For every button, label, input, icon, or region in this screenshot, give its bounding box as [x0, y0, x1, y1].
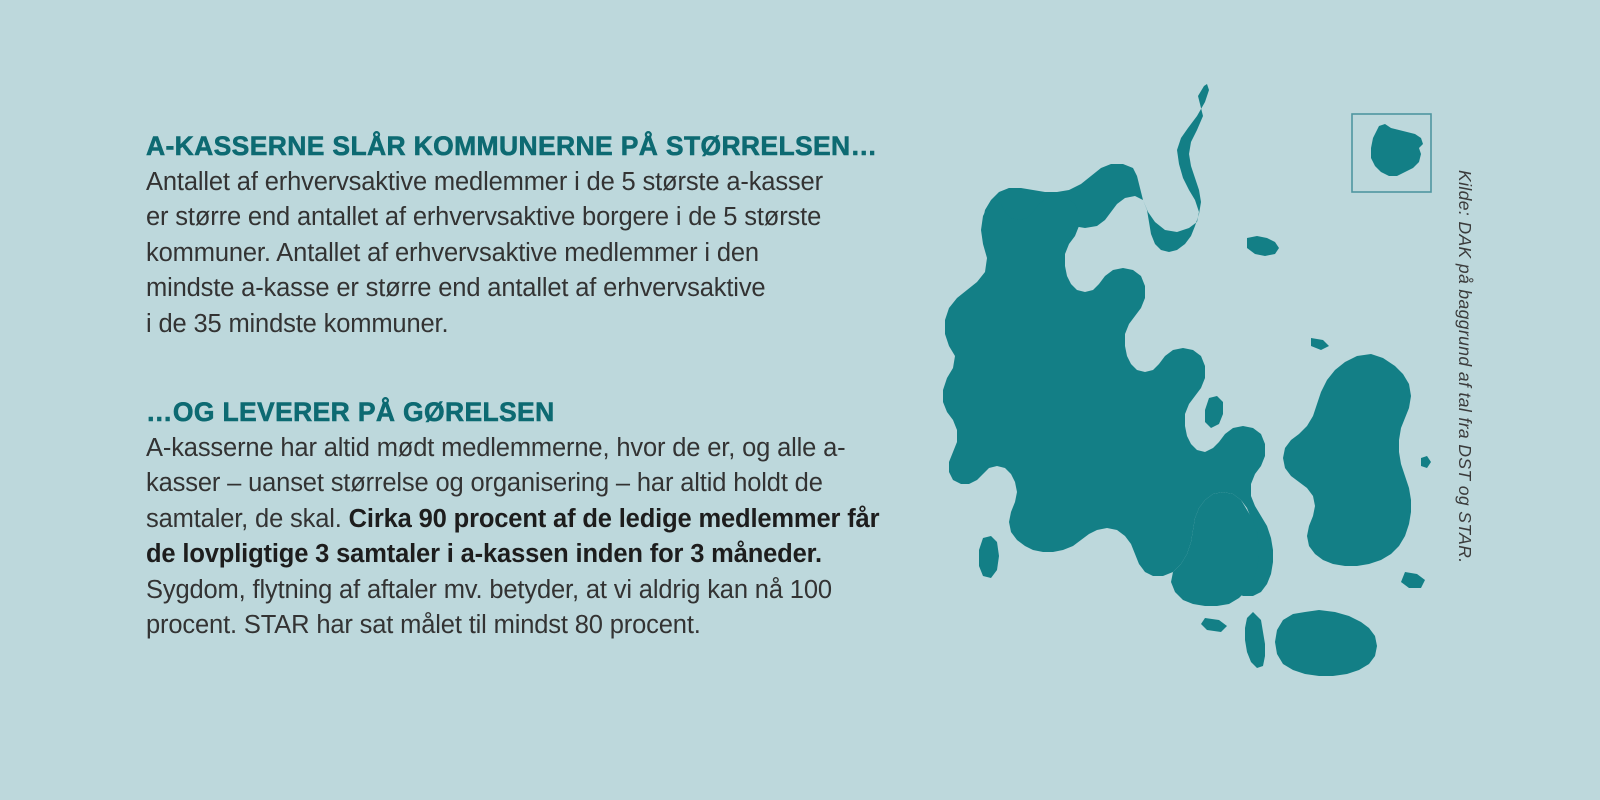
- section-block-delivery: …OG LEVERER PÅ GØRELSEN A-kasserne har a…: [146, 398, 906, 644]
- denmark-map: [905, 72, 1465, 712]
- map-region-zealand: [1283, 354, 1411, 566]
- section-paragraph-size: Antallet af erhvervsaktive medlemmer i d…: [146, 165, 906, 343]
- map-region-small-island-east: [1421, 456, 1431, 468]
- text-column: A-KASSERNE SLÅR KOMMUNERNE PÅ STØRRELSEN…: [146, 132, 906, 644]
- section-block-size: A-KASSERNE SLÅR KOMMUNERNE PÅ STØRRELSEN…: [146, 132, 906, 342]
- section-paragraph-delivery: A-kasserne har altid mødt medlemmerne, h…: [146, 431, 906, 644]
- paragraph-line: kommuner. Antallet af erhvervsaktive med…: [146, 239, 759, 267]
- map-region-laeso: [1247, 236, 1279, 256]
- paragraph-line: Antallet af erhvervsaktive medlemmer i d…: [146, 168, 823, 196]
- map-region-mon: [1401, 572, 1425, 588]
- paragraph-tail: Sygdom, flytning af aftaler mv. betyder,…: [146, 576, 832, 640]
- map-region-samso: [1205, 396, 1223, 428]
- map-region-bornholm: [1371, 124, 1423, 176]
- map-region-fano: [979, 536, 999, 578]
- map-region-aero: [1201, 618, 1227, 632]
- source-credit: Kilde: DAK på baggrund af tal fra DST og…: [1454, 170, 1475, 630]
- section-heading-delivery: …OG LEVERER PÅ GØRELSEN: [146, 398, 906, 428]
- paragraph-line: mindste a-kasse er større end antallet a…: [146, 274, 765, 302]
- map-region-langeland: [1245, 612, 1265, 668]
- map-region-lolland-falster: [1275, 610, 1377, 676]
- section-heading-size: A-KASSERNE SLÅR KOMMUNERNE PÅ STØRRELSEN…: [146, 132, 906, 162]
- map-landmass-group: [943, 84, 1431, 676]
- infographic-canvas: A-KASSERNE SLÅR KOMMUNERNE PÅ STØRRELSEN…: [0, 0, 1600, 800]
- paragraph-line: i de 35 mindste kommuner.: [146, 310, 448, 338]
- map-region-anholt: [1311, 338, 1329, 350]
- paragraph-line: er større end antallet af erhvervsaktive…: [146, 203, 821, 231]
